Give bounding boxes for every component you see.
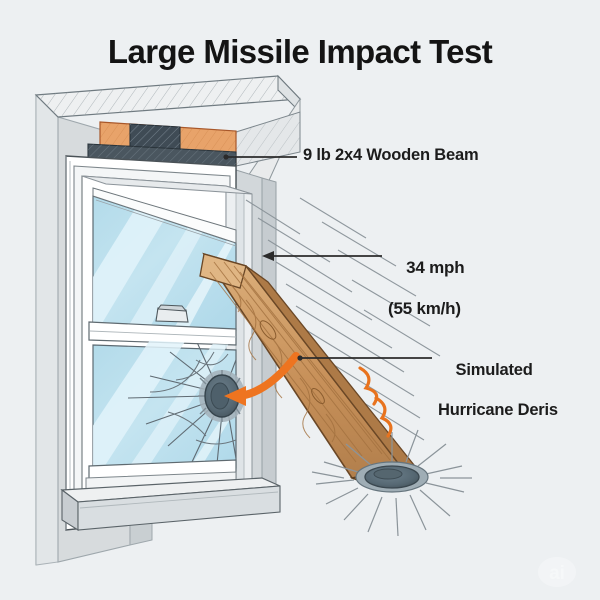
missile-impact-diagram: ai <box>0 0 600 600</box>
label-simulated-debris-line2: Hurricane Deris <box>438 400 558 420</box>
page-title: Large Missile Impact Test <box>0 33 600 71</box>
window-latch[interactable] <box>156 305 188 322</box>
label-impact-speed-line2: (55 km/h) <box>388 299 464 320</box>
label-simulated-debris: Simulated Hurricane Deris <box>438 340 558 461</box>
svg-text:ai: ai <box>549 563 565 584</box>
label-impact-speed-line1: 34 mph <box>406 258 464 277</box>
label-wooden-beam: 9 lb 2x4 Wooden Beam <box>303 145 478 165</box>
illustration-canvas: ai Large Missile Impact Test 9 lb 2x4 Wo… <box>0 0 600 600</box>
watermark-logo: ai <box>538 557 576 587</box>
label-simulated-debris-line1: Simulated <box>456 361 533 379</box>
